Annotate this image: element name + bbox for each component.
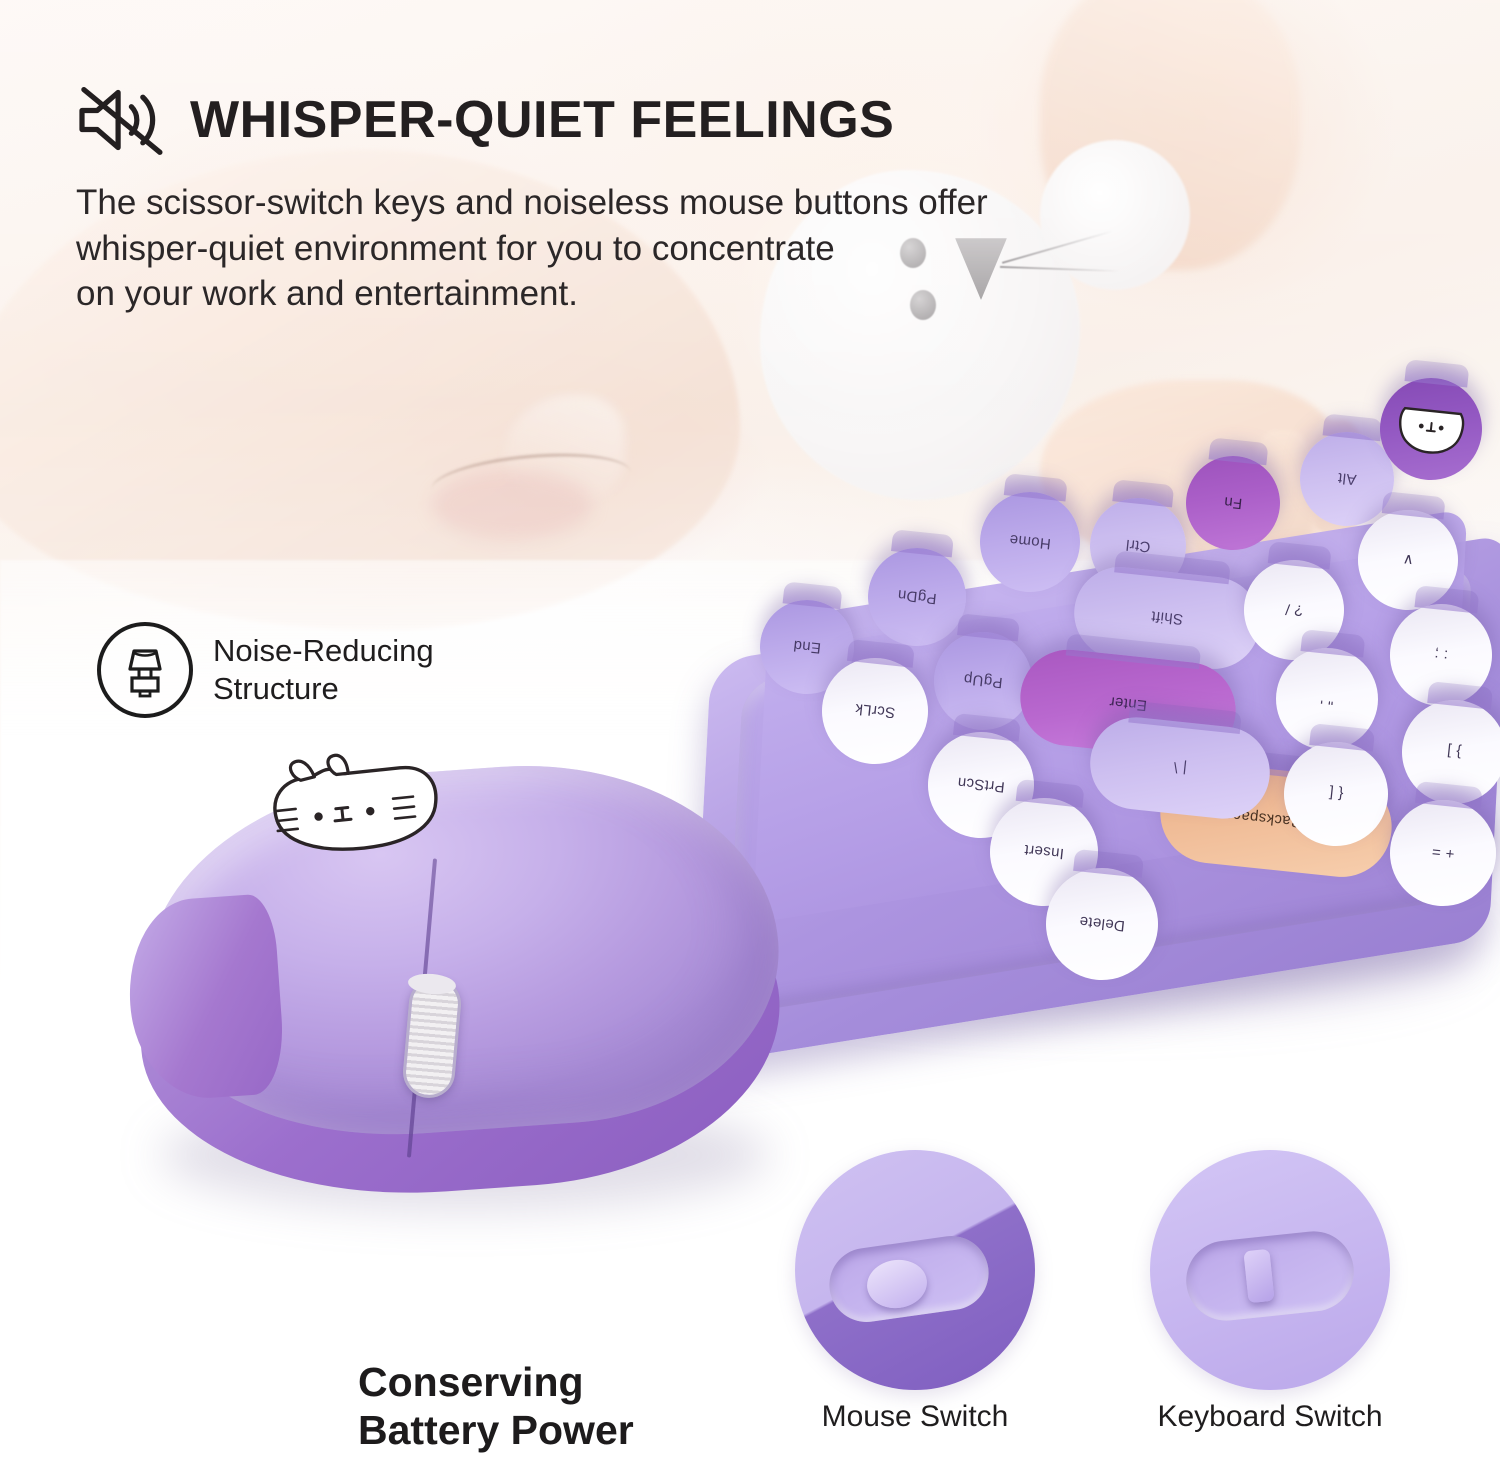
battery-headline: Conserving Battery Power [358, 1358, 634, 1455]
cat-face-decal [232, 739, 453, 880]
page-title: WHISPER-QUIET FEELINGS [190, 90, 894, 150]
wireless-keyboard-product-image: End PgDn PgUp Home ScrLk PrtScn Insert D… [690, 370, 1500, 1030]
noise-badge-line2: Structure [213, 670, 434, 708]
body-line-1: The scissor-switch keys and noiseless mo… [76, 180, 1192, 226]
header-block: WHISPER-QUIET FEELINGS The scissor-switc… [72, 82, 1192, 317]
mouse-switch-caption: Mouse Switch [765, 1400, 1065, 1434]
keyboard-power-switch[interactable] [1243, 1249, 1274, 1303]
body-line-3: on your work and entertainment. [76, 271, 1192, 317]
noise-badge-line1: Noise-Reducing [213, 632, 434, 670]
keyboard-switch-caption: Keyboard Switch [1120, 1400, 1420, 1434]
body-copy: The scissor-switch keys and noiseless mo… [76, 180, 1192, 317]
keyboard-switch-detail-circle [1150, 1150, 1390, 1390]
headline-row: WHISPER-QUIET FEELINGS [72, 82, 1192, 158]
battery-line-1: Conserving [358, 1358, 634, 1406]
noise-badge-label: Noise-Reducing Structure [213, 632, 434, 708]
noise-badge-circle [97, 622, 193, 718]
noise-reducing-badge: Noise-Reducing Structure [97, 622, 434, 718]
mouse-switch-detail-circle [795, 1150, 1035, 1390]
mute-speaker-icon [72, 82, 168, 158]
battery-line-2: Battery Power [358, 1406, 634, 1454]
body-line-2: whisper-quiet environment for you to con… [76, 226, 1192, 272]
cat-face-icon [1392, 395, 1470, 462]
keycap-switch-icon [114, 639, 176, 701]
wireless-mouse-product-image [120, 730, 800, 1230]
